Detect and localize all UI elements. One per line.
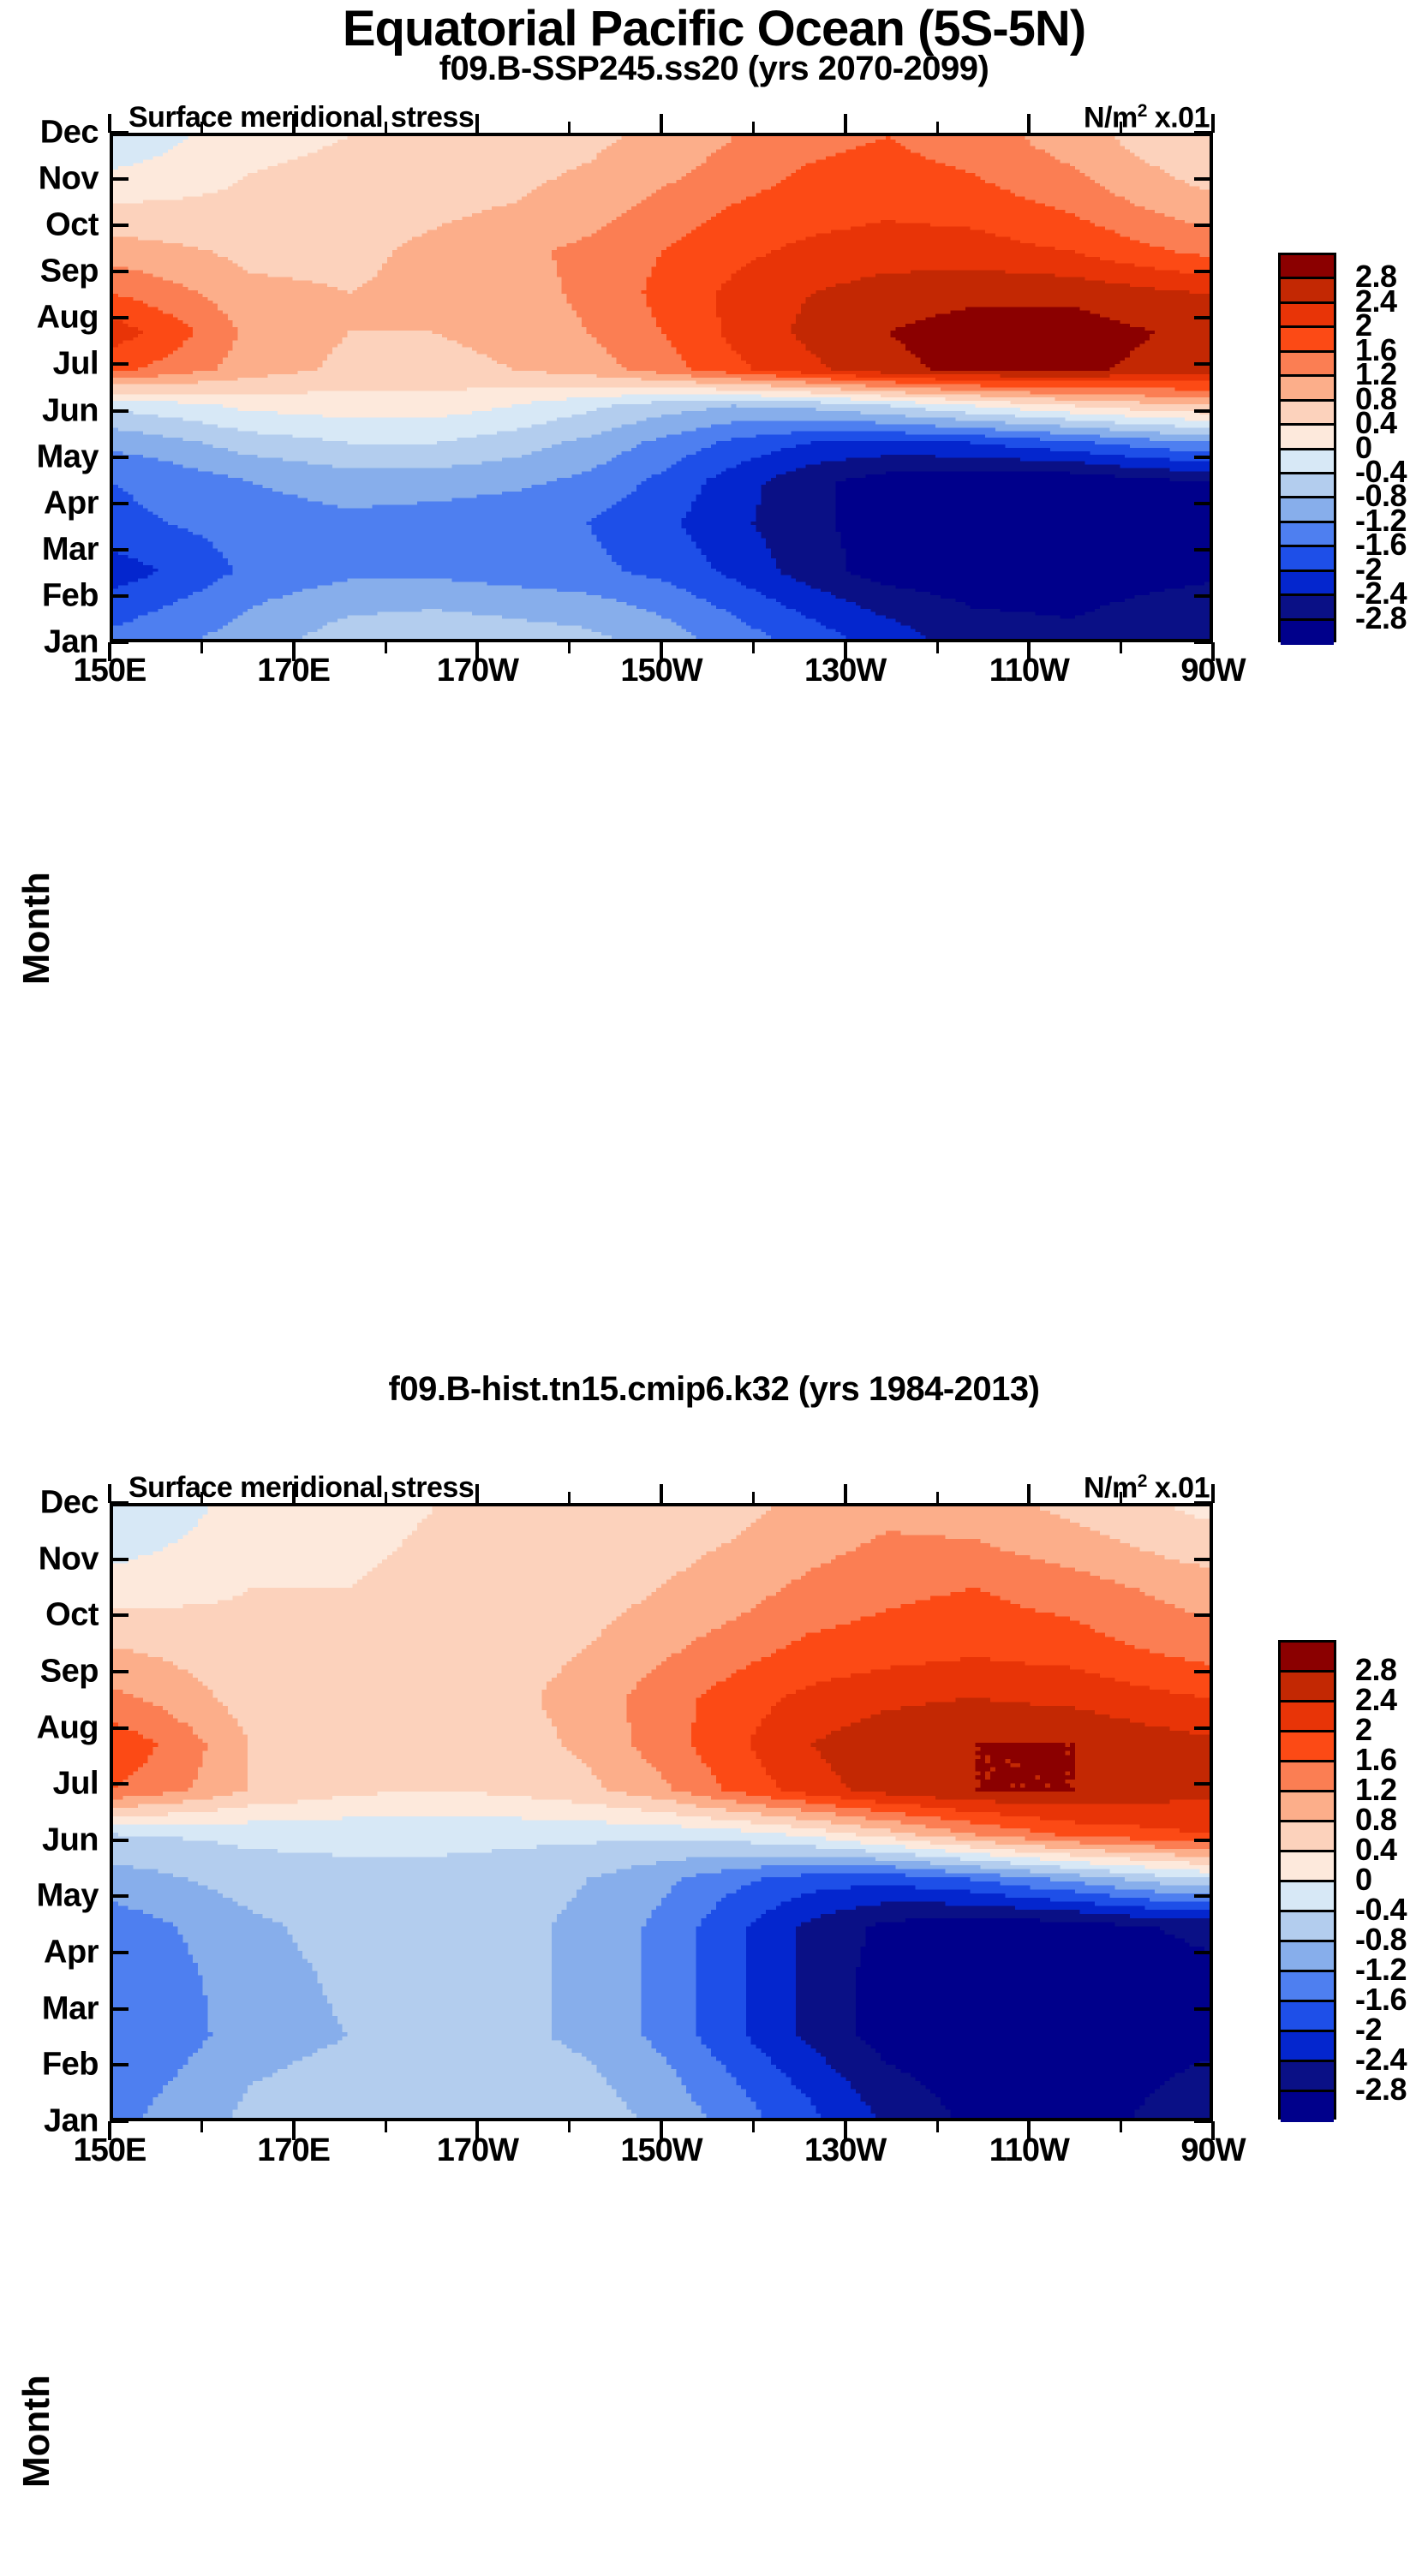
x-minor-tick-mark	[568, 2121, 571, 2132]
colorbar-cell	[1281, 2092, 1334, 2122]
x-tick-mark	[1211, 1484, 1215, 1503]
colorbar-cell	[1281, 1822, 1334, 1852]
x-tick-mark	[1027, 114, 1031, 133]
x-minor-tick-mark	[752, 642, 755, 653]
colorbar-cell	[1281, 621, 1334, 645]
y-tick-label-sep: Sep	[0, 1653, 99, 1690]
x-tick-mark	[844, 642, 847, 661]
x-tick-mark	[660, 2121, 663, 2140]
x-minor-tick-mark	[1120, 642, 1122, 653]
y-tick-label-mar: Mar	[0, 1990, 99, 2027]
colorbar-cell	[1281, 304, 1334, 328]
x-minor-tick-mark	[1120, 122, 1122, 133]
y-tick-mark	[1194, 1558, 1213, 1561]
colorbar-cell	[1281, 2002, 1334, 2032]
y-tick-mark	[110, 1951, 128, 1954]
x-tick-mark	[292, 2121, 296, 2140]
y-tick-mark	[110, 456, 128, 459]
panel-1-title: f09.B-SSP245.ss20 (yrs 2070-2099)	[0, 50, 1428, 88]
colorbar-cell	[1281, 1762, 1334, 1792]
y-tick-label-nov: Nov	[0, 1541, 99, 1577]
y-tick-mark	[1194, 1782, 1213, 1786]
colorbar-cell	[1281, 1972, 1334, 2002]
y-tick-mark	[110, 409, 128, 413]
colorbar-cell	[1281, 1792, 1334, 1822]
y-tick-label-dec: Dec	[0, 1485, 99, 1522]
panel-1-y-axis-title: Month	[15, 872, 58, 985]
y-tick-label-aug: Aug	[0, 300, 99, 337]
x-tick-mark	[844, 114, 847, 133]
x-tick-mark	[1211, 642, 1215, 661]
colorbar-cell	[1281, 474, 1334, 498]
y-tick-mark	[110, 316, 128, 319]
y-tick-mark	[1194, 362, 1213, 366]
y-tick-label-dec: Dec	[0, 115, 99, 152]
y-tick-mark	[110, 2007, 128, 2011]
y-tick-mark	[110, 548, 128, 552]
y-tick-label-oct: Oct	[0, 1597, 99, 1634]
y-tick-mark	[110, 1558, 128, 1561]
y-tick-mark	[110, 224, 128, 227]
y-tick-mark	[1194, 316, 1213, 319]
y-tick-label-sep: Sep	[0, 253, 99, 290]
colorbar-cell	[1281, 1643, 1334, 1673]
panel-1-contour-canvas	[113, 136, 1210, 639]
panel-2-field-label: Surface meridional stress	[128, 1471, 474, 1505]
y-tick-mark	[1194, 1951, 1213, 1954]
colorbar-cell	[1281, 402, 1334, 426]
y-tick-mark	[1194, 548, 1213, 552]
y-tick-mark	[1194, 2007, 1213, 2011]
y-tick-label-oct: Oct	[0, 207, 99, 244]
panel-2-contour-canvas	[113, 1506, 1210, 2118]
x-tick-mark	[1027, 642, 1031, 661]
y-tick-mark	[1194, 2120, 1213, 2123]
y-tick-mark	[1194, 502, 1213, 505]
y-tick-mark	[1194, 409, 1213, 413]
y-tick-label-nov: Nov	[0, 161, 99, 198]
colorbar-cell	[1281, 1673, 1334, 1702]
x-tick-mark	[292, 642, 296, 661]
y-tick-mark	[1194, 177, 1213, 181]
y-tick-mark	[1194, 1670, 1213, 1673]
y-tick-mark	[1194, 1894, 1213, 1898]
y-tick-mark	[110, 641, 128, 644]
y-tick-mark	[110, 594, 128, 598]
y-tick-label-aug: Aug	[0, 1709, 99, 1746]
colorbar-cell	[1281, 1702, 1334, 1732]
x-minor-tick-mark	[936, 642, 939, 653]
panel-2-colorbar	[1278, 1640, 1336, 2120]
x-tick-mark	[844, 1484, 847, 1503]
panel-2-title: f09.B-hist.tn15.cmip6.k32 (yrs 1984-2013…	[0, 1370, 1428, 1409]
x-minor-tick-mark	[200, 122, 203, 133]
x-minor-tick-mark	[568, 1492, 571, 1503]
y-tick-label-jun: Jun	[0, 392, 99, 429]
y-tick-mark	[1194, 270, 1213, 273]
y-tick-label-may: May	[0, 438, 99, 475]
y-tick-label-feb: Feb	[0, 2047, 99, 2084]
y-tick-label-jun: Jun	[0, 1822, 99, 1858]
x-minor-tick-mark	[385, 2121, 387, 2132]
x-tick-mark	[1027, 2121, 1031, 2140]
colorbar-cell	[1281, 353, 1334, 377]
y-tick-mark	[110, 1613, 128, 1617]
y-tick-label-feb: Feb	[0, 577, 99, 614]
y-tick-mark	[1194, 1726, 1213, 1730]
colorbar-cell	[1281, 279, 1334, 303]
y-tick-mark	[110, 1670, 128, 1673]
colorbar-cell	[1281, 2062, 1334, 2092]
colorbar-cell	[1281, 377, 1334, 401]
y-tick-mark	[110, 1726, 128, 1730]
colorbar-cell	[1281, 572, 1334, 596]
y-tick-mark	[110, 362, 128, 366]
x-tick-mark	[292, 1484, 296, 1503]
x-minor-tick-mark	[200, 642, 203, 653]
y-tick-mark	[1194, 594, 1213, 598]
x-minor-tick-mark	[385, 642, 387, 653]
x-minor-tick-mark	[752, 122, 755, 133]
x-tick-mark	[844, 2121, 847, 2140]
colorbar-cell	[1281, 1942, 1334, 1972]
y-tick-mark	[110, 502, 128, 505]
y-tick-mark	[110, 1501, 128, 1505]
colorbar-cell	[1281, 1912, 1334, 1942]
x-minor-tick-mark	[936, 122, 939, 133]
x-tick-mark	[475, 642, 479, 661]
main-title: Equatorial Pacific Ocean (5S-5N)	[0, 0, 1428, 57]
colorbar-cell	[1281, 523, 1334, 547]
x-minor-tick-mark	[936, 2121, 939, 2132]
panel-1-plot-frame	[110, 133, 1213, 642]
panel-2-plot-frame	[110, 1503, 1213, 2121]
colorbar-tick-label: -2.8	[1355, 600, 1407, 636]
y-tick-label-mar: Mar	[0, 531, 99, 568]
y-tick-mark	[110, 177, 128, 181]
y-tick-mark	[1194, 131, 1213, 134]
x-tick-mark	[1211, 114, 1215, 133]
colorbar-cell	[1281, 450, 1334, 474]
colorbar-cell	[1281, 1852, 1334, 1882]
colorbar-cell	[1281, 255, 1334, 279]
y-tick-mark	[1194, 456, 1213, 459]
colorbar-cell	[1281, 498, 1334, 522]
y-tick-mark	[110, 2063, 128, 2066]
colorbar-cell	[1281, 2032, 1334, 2062]
figure-root: Equatorial Pacific Ocean (5S-5N) f09.B-S…	[0, 0, 1428, 2576]
x-minor-tick-mark	[385, 1492, 387, 1503]
panel-1-field-label: Surface meridional stress	[128, 101, 474, 134]
x-minor-tick-mark	[752, 2121, 755, 2132]
x-minor-tick-mark	[200, 2121, 203, 2132]
x-tick-mark	[1211, 2121, 1215, 2140]
colorbar-cell	[1281, 426, 1334, 450]
x-minor-tick-mark	[385, 122, 387, 133]
y-tick-mark	[110, 1894, 128, 1898]
x-tick-mark	[108, 1484, 111, 1503]
colorbar-cell	[1281, 596, 1334, 620]
x-tick-mark	[660, 642, 663, 661]
x-tick-mark	[660, 114, 663, 133]
colorbar-tick-label: -2.8	[1355, 2072, 1407, 2108]
x-tick-mark	[108, 114, 111, 133]
x-minor-tick-mark	[752, 1492, 755, 1503]
y-tick-mark	[1194, 2063, 1213, 2066]
y-tick-label-apr: Apr	[0, 1935, 99, 1971]
x-tick-mark	[1027, 1484, 1031, 1503]
x-tick-mark	[660, 1484, 663, 1503]
y-tick-mark	[110, 1839, 128, 1842]
y-tick-label-apr: Apr	[0, 485, 99, 522]
y-tick-label-may: May	[0, 1878, 99, 1915]
x-minor-tick-mark	[936, 1492, 939, 1503]
x-minor-tick-mark	[200, 1492, 203, 1503]
y-tick-mark	[1194, 641, 1213, 644]
y-tick-label-jul: Jul	[0, 346, 99, 383]
y-tick-mark	[1194, 1501, 1213, 1505]
y-tick-mark	[110, 270, 128, 273]
x-minor-tick-mark	[1120, 2121, 1122, 2132]
x-tick-mark	[475, 1484, 479, 1503]
x-minor-tick-mark	[568, 642, 571, 653]
panel-2-y-axis-title: Month	[15, 2375, 58, 2488]
x-tick-mark	[108, 2121, 111, 2140]
y-tick-mark	[1194, 1613, 1213, 1617]
x-tick-mark	[292, 114, 296, 133]
x-tick-mark	[108, 642, 111, 661]
colorbar-cell	[1281, 1732, 1334, 1762]
colorbar-cell	[1281, 1882, 1334, 1912]
x-tick-mark	[475, 114, 479, 133]
y-tick-mark	[1194, 1839, 1213, 1842]
x-minor-tick-mark	[568, 122, 571, 133]
panel-1-units-label: N/m2 x.01	[1084, 101, 1210, 134]
colorbar-cell	[1281, 547, 1334, 571]
y-tick-mark	[110, 2120, 128, 2123]
y-tick-mark	[110, 131, 128, 134]
x-minor-tick-mark	[1120, 1492, 1122, 1503]
panel-1-colorbar	[1278, 253, 1336, 642]
y-tick-mark	[110, 1782, 128, 1786]
y-tick-label-jul: Jul	[0, 1766, 99, 1803]
colorbar-cell	[1281, 328, 1334, 352]
panel-2-units-label: N/m2 x.01	[1084, 1471, 1210, 1505]
x-tick-mark	[475, 2121, 479, 2140]
y-tick-mark	[1194, 224, 1213, 227]
